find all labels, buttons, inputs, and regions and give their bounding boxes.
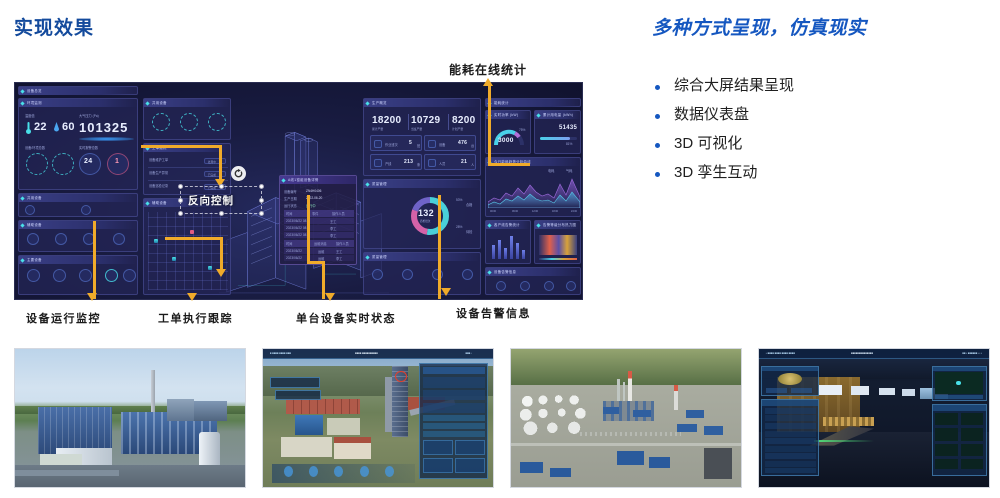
- panel-production-title: 生产概览: [372, 100, 387, 106]
- cell: 王工: [330, 219, 336, 224]
- twin-left-panel-top[interactable]: [761, 366, 819, 396]
- panel-production: 生产概览 18200 累计产量 10729 当班产量 8200 计划产量 作业班…: [363, 98, 481, 176]
- thermometer-icon: [25, 121, 32, 135]
- device-count-icon: [428, 140, 436, 148]
- callout-arrow-bottom-3: [325, 293, 335, 301]
- cell: 李工: [336, 256, 342, 261]
- col-header: 时间: [286, 211, 292, 216]
- callout-label-energy: 能耗在线统计: [449, 61, 527, 78]
- x-tick: 06:00: [512, 210, 518, 213]
- prod-chip[interactable]: 作业班次 5 班: [370, 135, 422, 151]
- device-icon[interactable]: [105, 269, 118, 282]
- pressure-label: 大气压力 (Pa): [79, 113, 99, 118]
- line-count-icon: [374, 159, 382, 167]
- heatmap-legend-scale: [539, 258, 577, 260]
- metric-label: 当班产量: [411, 127, 422, 131]
- x-tick: 12:00: [532, 210, 538, 213]
- metric-value: 8200: [452, 115, 475, 126]
- callout-leader-5b: [488, 163, 530, 166]
- alarm-heatmap-title: 告警等级分布热力图: [543, 222, 576, 228]
- twin-right-panel-cameras[interactable]: [932, 404, 987, 476]
- twin-left-panel-list[interactable]: [761, 399, 819, 476]
- device-icon[interactable]: [55, 233, 67, 245]
- twin-top-bar[interactable]: [263, 349, 493, 359]
- panel-common-devices-title: 共用设备: [27, 195, 42, 201]
- energy-meter-title-bar: 累计用电量 (kWh): [535, 111, 580, 119]
- panel-main-devices-title: 主要设备: [27, 257, 42, 263]
- env-gauge-right-label: 实时报警总数: [79, 145, 98, 150]
- table-row[interactable]: 设备维护工单 处理中: [148, 156, 228, 168]
- table-row[interactable]: 2023/06/22 08 王工: [284, 218, 354, 224]
- alarm-list-title: 设备告警信息: [494, 269, 516, 275]
- meter-value: 51435: [559, 125, 577, 131]
- bar: [522, 250, 525, 259]
- callout-leader-4: [438, 195, 441, 300]
- callout-leader-1: [93, 221, 96, 300]
- legend-label: 合格: [466, 202, 472, 207]
- device-icon[interactable]: [27, 233, 39, 245]
- list-item: 综合大屏结果呈现: [652, 78, 794, 93]
- list-item: 3D 孪生互动: [652, 165, 794, 180]
- col-header: 操作人员: [336, 241, 349, 246]
- callout-leader-5a: [488, 85, 491, 165]
- cell: 2023/06/22: [286, 249, 302, 253]
- bullet-dot-icon: [655, 143, 660, 148]
- panel-aux-devices-title-bar: 辅助设备: [19, 221, 137, 229]
- model-field-value: ZN4H0406: [306, 189, 321, 193]
- refresh-arrow-glyph: [233, 168, 244, 179]
- panel-energy-header: 能耗统计: [485, 98, 581, 107]
- status-badge-label: 已完成: [208, 173, 216, 177]
- order-row-text: 设备生产异常: [149, 170, 168, 175]
- alarm-list-title-bar: 设备告警信息: [486, 268, 580, 276]
- chip-value: 21: [461, 159, 467, 165]
- refresh-icon[interactable]: [231, 166, 246, 181]
- model-field-key: 生产日期: [284, 196, 297, 201]
- model-field-key: 设备编号: [284, 189, 297, 194]
- metric-icon[interactable]: [372, 269, 383, 280]
- divider: [448, 114, 449, 130]
- legend-pct: 53%: [456, 198, 462, 202]
- callout-arrow-bottom-4: [441, 288, 451, 296]
- callout-label-bottom-3: 单台设备实时状态: [296, 310, 396, 326]
- bar: [504, 248, 507, 259]
- status-badge-label: 处理中: [208, 160, 216, 164]
- legend-label: 待检: [466, 229, 472, 234]
- resize-handle-e[interactable]: [259, 198, 264, 203]
- reverse-control-label: 反向控制: [188, 193, 234, 208]
- energy-gauge-title: 实时功率 (kW): [494, 112, 518, 118]
- prod-chip[interactable]: 设备 476 台: [424, 135, 476, 151]
- model-detail-popup[interactable]: A线1窑组设备详情 设备编号 ZN4H0406 生产日期 2022-06-20 …: [279, 175, 357, 265]
- metric-label: 计划产量: [452, 127, 463, 131]
- callout-label-bottom-4: 设备告警信息: [456, 305, 531, 321]
- temp-label: 温度值: [25, 113, 35, 118]
- energy-meter-title: 累计用电量 (kWh): [543, 112, 573, 118]
- callout-leader-3a: [307, 195, 310, 263]
- panel-environment-title-bar: 环境监测: [19, 99, 137, 107]
- list-item-label: 数据仪表盘: [674, 106, 749, 123]
- chip-label: 作业班次: [385, 142, 398, 147]
- bar: [492, 245, 495, 259]
- chip-unit: 人: [471, 162, 474, 167]
- resize-handle-se[interactable]: [259, 211, 264, 216]
- x-tick: 24:00: [571, 210, 577, 213]
- page-title-right: 多种方式呈现，仿真现实: [652, 13, 867, 40]
- gauge-ring-2: [52, 153, 74, 175]
- device-matrix-grid: [148, 212, 228, 290]
- indoor-warehouse-night-twin: ▪ ■■■■ ■■■■ ■■■■ ■■■■ ■■■■■■■■■■■■■■ ■■ …: [759, 349, 989, 487]
- callout-leader-2b: [220, 237, 223, 271]
- device-icon[interactable]: [113, 233, 125, 245]
- cell: 2023/06/22 08: [286, 233, 306, 237]
- gauge-ring-1: [26, 153, 48, 175]
- status-badge: 处理中: [204, 158, 226, 164]
- shift-icon: [374, 140, 382, 148]
- panel-energy-title: 能耗统计: [494, 100, 509, 106]
- refinery-aerial-render: [511, 349, 741, 487]
- panel-energy-gauge: 实时功率 (kW) 3000 75%: [485, 110, 531, 154]
- panel-alarm-bars: 各产线告警统计: [485, 220, 531, 264]
- cement-plant-digital-twin-hud: ■ ■■■■ ■■■■ ■■■ ■■■■ ■■■■■■■■■■ ■■■ ▪: [263, 349, 493, 487]
- gallery-image-1[interactable]: [14, 348, 246, 488]
- panel-energy-title-bar: 能耗统计: [486, 99, 580, 107]
- panel-energy-meter: 累计用电量 (kWh) 51435 81%: [534, 110, 581, 154]
- donut-center-label: 质检批次: [420, 219, 430, 223]
- dashboard-header-bar: 设备总览: [19, 87, 137, 95]
- model-table-a-header: 时间 事件 操作人员: [284, 210, 354, 217]
- gauge-pct: 75%: [519, 128, 525, 132]
- temp-value: 22: [34, 121, 47, 133]
- chip-unit: 台: [471, 143, 474, 148]
- gallery-image-3[interactable]: [510, 348, 742, 488]
- cell: 运维: [318, 256, 324, 261]
- resize-handle-sw[interactable]: [178, 211, 183, 216]
- cell: 2023/06/22 08: [286, 219, 306, 223]
- twin-tag-chip[interactable]: [275, 390, 321, 400]
- feature-bullet-list: 综合大屏结果呈现 数据仪表盘 3D 可视化 3D 孪生互动: [652, 78, 794, 194]
- prod-chip[interactable]: 产线 213 条: [370, 154, 422, 170]
- gallery-image-4[interactable]: ▪ ■■■■ ■■■■ ■■■■ ■■■■ ■■■■■■■■■■■■■■ ■■ …: [758, 348, 990, 488]
- panel-production-title-bar: 生产概览: [364, 99, 480, 107]
- cell: 运维: [318, 249, 324, 254]
- bullet-dot-icon: [655, 114, 660, 119]
- humidity-value: 60: [62, 121, 75, 133]
- callout-arrow-energy-up: [483, 78, 493, 86]
- panel-quality-detail: 质量管理: [363, 252, 481, 295]
- matrix-cell-active[interactable]: [172, 257, 176, 261]
- panel-device-overview-title-bar: 共用设备: [144, 99, 230, 107]
- alarm-icon[interactable]: [566, 281, 576, 291]
- energy-trend-area-chart: [488, 174, 580, 208]
- list-item-label: 综合大屏结果呈现: [674, 77, 794, 94]
- device-ring-1: [152, 113, 170, 131]
- twin-right-panel[interactable]: [419, 363, 488, 479]
- panel-quality-detail-title: 质量管理: [372, 254, 387, 260]
- panel-quality-detail-title-bar: 质量管理: [364, 253, 480, 261]
- callout-label-bottom-2: 工单执行跟踪: [158, 310, 233, 326]
- meter-track: [540, 137, 577, 140]
- chemical-plant-daylight-render: [15, 349, 245, 487]
- alarm-icon[interactable]: [544, 281, 554, 291]
- panel-energy-trend: 今日能耗趋势分析曲线 电耗 气耗 00:00 06:00 12:00 18:00…: [485, 157, 581, 217]
- list-item-label: 3D 孪生互动: [674, 164, 757, 181]
- callout-arrow-2: [216, 269, 226, 277]
- matrix-cell-active[interactable]: [154, 239, 158, 243]
- cell: 王工: [336, 249, 342, 254]
- matrix-cell-active[interactable]: [208, 266, 212, 270]
- resize-handle-w[interactable]: [178, 198, 183, 203]
- metric-label: 累计产量: [372, 127, 383, 131]
- device-ring-3: [208, 113, 226, 131]
- status-badge: 已完成: [204, 171, 226, 177]
- chip-label: 产线: [385, 161, 391, 166]
- panel-device-overview: 共用设备: [143, 98, 231, 140]
- model-popup-title-bar: A线1窑组设备详情: [280, 176, 356, 184]
- pressure-value: 101325: [79, 120, 128, 135]
- panel-environment-title: 环境监测: [27, 100, 42, 106]
- alarm-icon[interactable]: [496, 281, 506, 291]
- resize-handle-nw[interactable]: [178, 184, 183, 189]
- cell: 2023/06/22: [286, 256, 302, 260]
- alarm-heatmap-title-bar: 告警等级分布热力图: [535, 221, 580, 229]
- chip-label: 设备: [439, 142, 445, 147]
- bullet-dot-icon: [655, 85, 660, 90]
- dial-a-value: 24: [84, 158, 92, 165]
- meter-pct: 81%: [566, 142, 572, 146]
- metric-icon[interactable]: [402, 269, 413, 280]
- divider: [408, 114, 409, 130]
- callout-leader-6a: [141, 145, 221, 148]
- dashboard-header-title: 设备总览: [27, 88, 42, 94]
- pressure-glow: [79, 137, 134, 141]
- panel-aux-devices-title: 辅助设备: [27, 222, 42, 228]
- twin-tag-chip[interactable]: [270, 377, 321, 388]
- panel-main-devices-title-bar: 主要设备: [19, 256, 137, 264]
- meter-fill: [540, 137, 570, 140]
- heatmap-grid: [539, 235, 577, 255]
- alarm-bars-title: 各产线告警统计: [494, 222, 520, 228]
- dashboard-screenshot: 设备总览 环境监测 温度值 大气压力 (Pa) 22 60 101325 设备/…: [14, 82, 583, 300]
- model-field-key: 运行状态: [284, 203, 297, 208]
- trend-legend-1: 电耗: [548, 168, 554, 173]
- panel-common-devices-title-bar: 共用设备: [19, 194, 137, 202]
- page-title-left: 实现效果: [14, 13, 94, 40]
- chip-label: 人员: [439, 161, 445, 166]
- chip-unit: 条: [417, 162, 420, 167]
- dashboard-header: 设备总览: [18, 86, 138, 95]
- panel-common-devices: 共用设备: [18, 193, 138, 217]
- order-row-text: 设备巡检记录: [149, 183, 168, 188]
- device-icon[interactable]: [79, 269, 92, 282]
- resize-handle-n[interactable]: [219, 184, 224, 189]
- bar: [510, 236, 513, 259]
- table-row[interactable]: 2023/06/22 08 李工: [284, 232, 354, 238]
- bullet-dot-icon: [655, 172, 660, 177]
- x-tick: 18:00: [552, 210, 558, 213]
- chip-value: 213: [404, 159, 413, 165]
- cell: 2023/06/22 08: [286, 226, 306, 230]
- table-row[interactable]: 2023/06/22 运维 王工: [284, 248, 354, 254]
- panel-quality: 质量管理 132 质检批次 53% 合格 28% 待检: [363, 179, 481, 249]
- col-header: 事件: [312, 211, 318, 216]
- gallery-strip: ■ ■■■■ ■■■■ ■■■ ■■■■ ■■■■■■■■■■ ■■■ ▪: [14, 348, 986, 488]
- resize-handle-s[interactable]: [219, 211, 224, 216]
- list-item: 数据仪表盘: [652, 107, 794, 122]
- bar: [498, 240, 501, 259]
- col-header: 操作人员: [332, 211, 345, 216]
- chip-unit: 班: [417, 143, 420, 148]
- focus-ring-indicator: [395, 371, 407, 382]
- col-header: 运维消息: [314, 241, 327, 246]
- panel-quality-title: 质量管理: [372, 181, 387, 187]
- list-item-label: 3D 可视化: [674, 135, 742, 152]
- energy-gauge-title-bar: 实时功率 (kW): [486, 111, 530, 119]
- metric-value: 18200: [372, 115, 401, 126]
- cell: 李工: [330, 233, 336, 238]
- panel-device-overview-title: 共用设备: [152, 100, 167, 106]
- matrix-cell-alarm[interactable]: [190, 230, 194, 234]
- col-header: 时间: [286, 241, 292, 246]
- gallery-image-2[interactable]: ■ ■■■■ ■■■■ ■■■ ■■■■ ■■■■■■■■■■ ■■■ ▪: [262, 348, 494, 488]
- panel-alarm-list: 设备告警信息: [485, 267, 581, 295]
- callout-arrow-bottom-2: [187, 293, 197, 301]
- trend-legend-2: 气耗: [566, 168, 572, 173]
- callout-leader-6b: [219, 145, 222, 181]
- people-icon: [428, 159, 436, 167]
- panel-aux-devices: 辅助设备: [18, 220, 138, 252]
- metric-icon[interactable]: [462, 269, 473, 280]
- resize-handle-ne[interactable]: [259, 184, 264, 189]
- panel-quality-title-bar: 质量管理: [364, 180, 480, 188]
- metric-value: 10729: [411, 115, 440, 126]
- alarm-icon[interactable]: [520, 281, 530, 291]
- donut-center-value: 132: [418, 208, 434, 218]
- device-icon[interactable]: [81, 205, 91, 215]
- alarm-bars-title-bar: 各产线告警统计: [486, 221, 530, 229]
- model-table-b-header: 时间 运维消息 操作人员: [284, 240, 354, 247]
- device-icon[interactable]: [53, 269, 66, 282]
- x-tick: 00:00: [490, 210, 496, 213]
- device-ring-2: [180, 113, 198, 131]
- chip-value: 5: [409, 140, 412, 146]
- callout-arrow-bottom-1: [87, 293, 97, 301]
- bar: [516, 243, 519, 259]
- callout-label-bottom-1: 设备运行监控: [26, 310, 101, 326]
- table-row[interactable]: 2023/06/22 08 李工: [284, 225, 354, 231]
- legend-pct: 28%: [456, 225, 462, 229]
- panel-alarm-heatmap: 告警等级分布热力图: [534, 220, 581, 264]
- device-icon[interactable]: [27, 269, 40, 282]
- list-item: 3D 可视化: [652, 136, 794, 151]
- device-icon[interactable]: [25, 205, 35, 215]
- callout-leader-2a: [165, 237, 223, 240]
- order-row-text: 设备维护工单: [149, 157, 168, 162]
- cell: 李工: [330, 226, 336, 231]
- env-gauge-left-label: 设备/环境总数: [25, 145, 45, 150]
- twin-right-panel-map[interactable]: [932, 366, 987, 402]
- prod-chip[interactable]: 人员 21 人: [424, 154, 476, 170]
- panel-main-devices: 主要设备: [18, 255, 138, 295]
- humidity-drop-icon: [53, 121, 60, 135]
- model-popup-title: A线1窑组设备详情: [288, 177, 319, 183]
- gauge-value: 3000: [498, 137, 514, 144]
- dial-b-value: 1: [115, 158, 119, 165]
- device-icon[interactable]: [123, 269, 136, 282]
- panel-device-matrix-title: 辅助设备: [152, 200, 167, 206]
- chip-value: 476: [458, 140, 467, 146]
- panel-environment: 环境监测 温度值 大气压力 (Pa) 22 60 101325 设备/环境总数 …: [18, 98, 138, 190]
